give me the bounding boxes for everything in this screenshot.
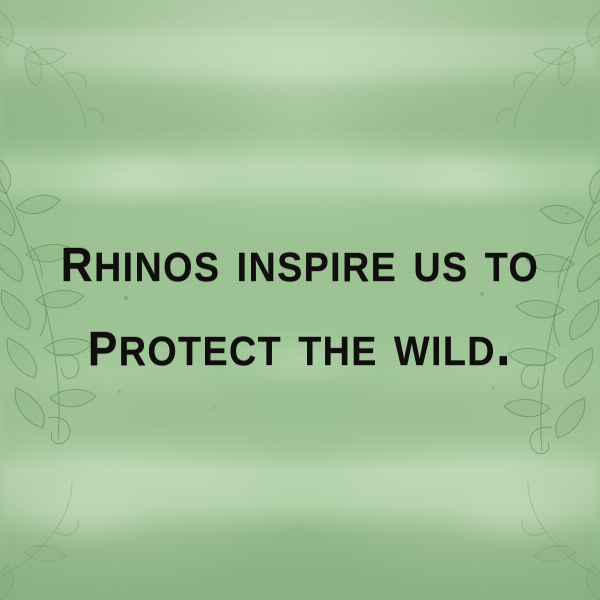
speckle-dot bbox=[118, 390, 121, 393]
speckle-dot bbox=[492, 386, 495, 389]
quote-line-1: Rhinos inspire us to bbox=[24, 224, 576, 292]
quote-text-block: Rhinos inspire us to protect the wild. bbox=[0, 224, 600, 376]
quote-line-2: protect the wild. bbox=[24, 308, 576, 376]
foliage-wisp-bottom-right-icon bbox=[492, 470, 600, 600]
speckle-dot bbox=[212, 406, 215, 409]
foliage-wisp-bottom-left-icon bbox=[0, 470, 108, 600]
foliage-wisp-top-right-icon bbox=[482, 0, 600, 144]
foliage-wisp-top-left-icon bbox=[0, 0, 118, 144]
speckle-dot bbox=[566, 212, 569, 215]
quote-card: Rhinos inspire us to protect the wild. bbox=[0, 0, 600, 600]
